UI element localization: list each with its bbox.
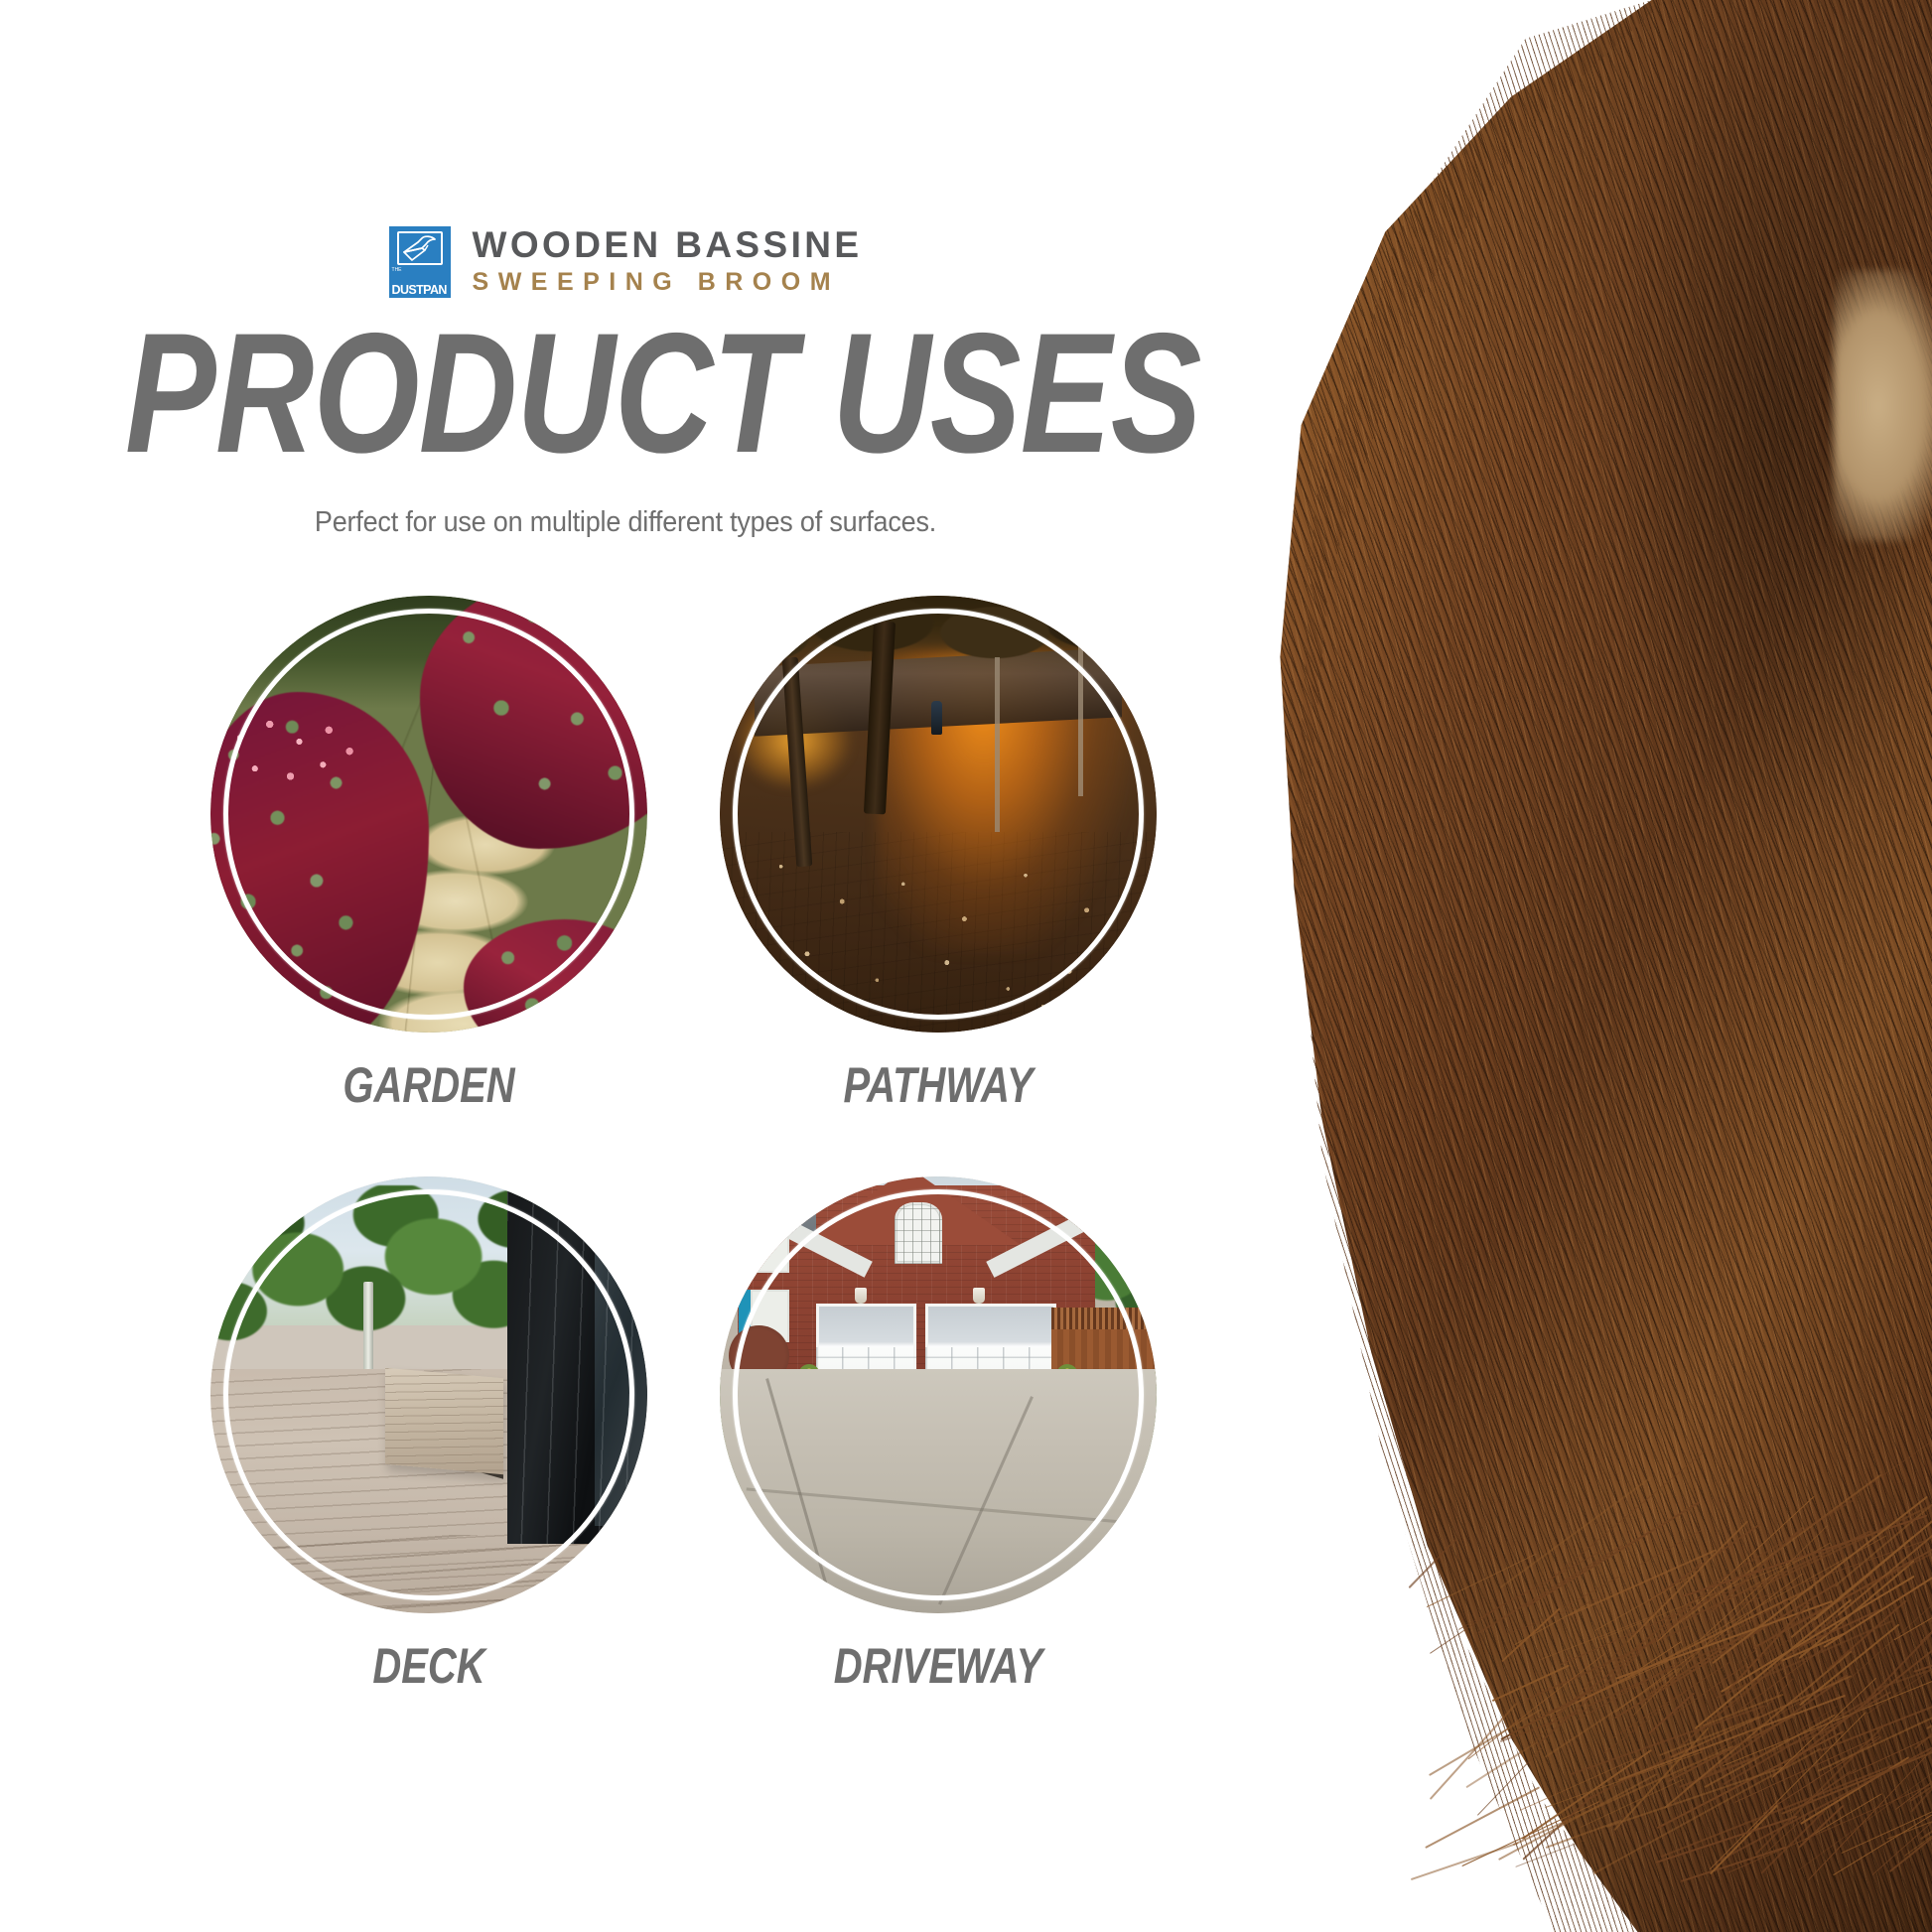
deck-photo [210,1176,647,1613]
broom-light-patch [1834,270,1932,540]
use-label-pathway: PATHWAY [763,1056,1113,1114]
use-card-driveway: DRIVEWAY [720,1176,1157,1695]
use-image-pathway [720,596,1157,1033]
use-card-pathway: PATHWAY [720,596,1157,1114]
use-label-deck: DECK [254,1637,604,1695]
broom-product-photo [1231,0,1932,1932]
use-image-driveway [720,1176,1157,1613]
use-label-driveway: DRIVEWAY [763,1637,1113,1695]
use-card-garden: GARDEN [210,596,647,1114]
broom-loose-strands [1231,1575,1932,1932]
use-image-deck [210,1176,647,1613]
use-card-deck: DECK [210,1176,647,1695]
uses-grid: GARDEN [0,0,1251,1932]
pathway-photo [720,596,1157,1033]
driveway-photo [720,1176,1157,1613]
product-uses-infographic: THEDUSTPAN &BRUSH WOODEN BASSINE SWEEPIN… [0,0,1932,1932]
use-image-garden [210,596,647,1033]
garden-photo [210,596,647,1033]
use-label-garden: GARDEN [254,1056,604,1114]
